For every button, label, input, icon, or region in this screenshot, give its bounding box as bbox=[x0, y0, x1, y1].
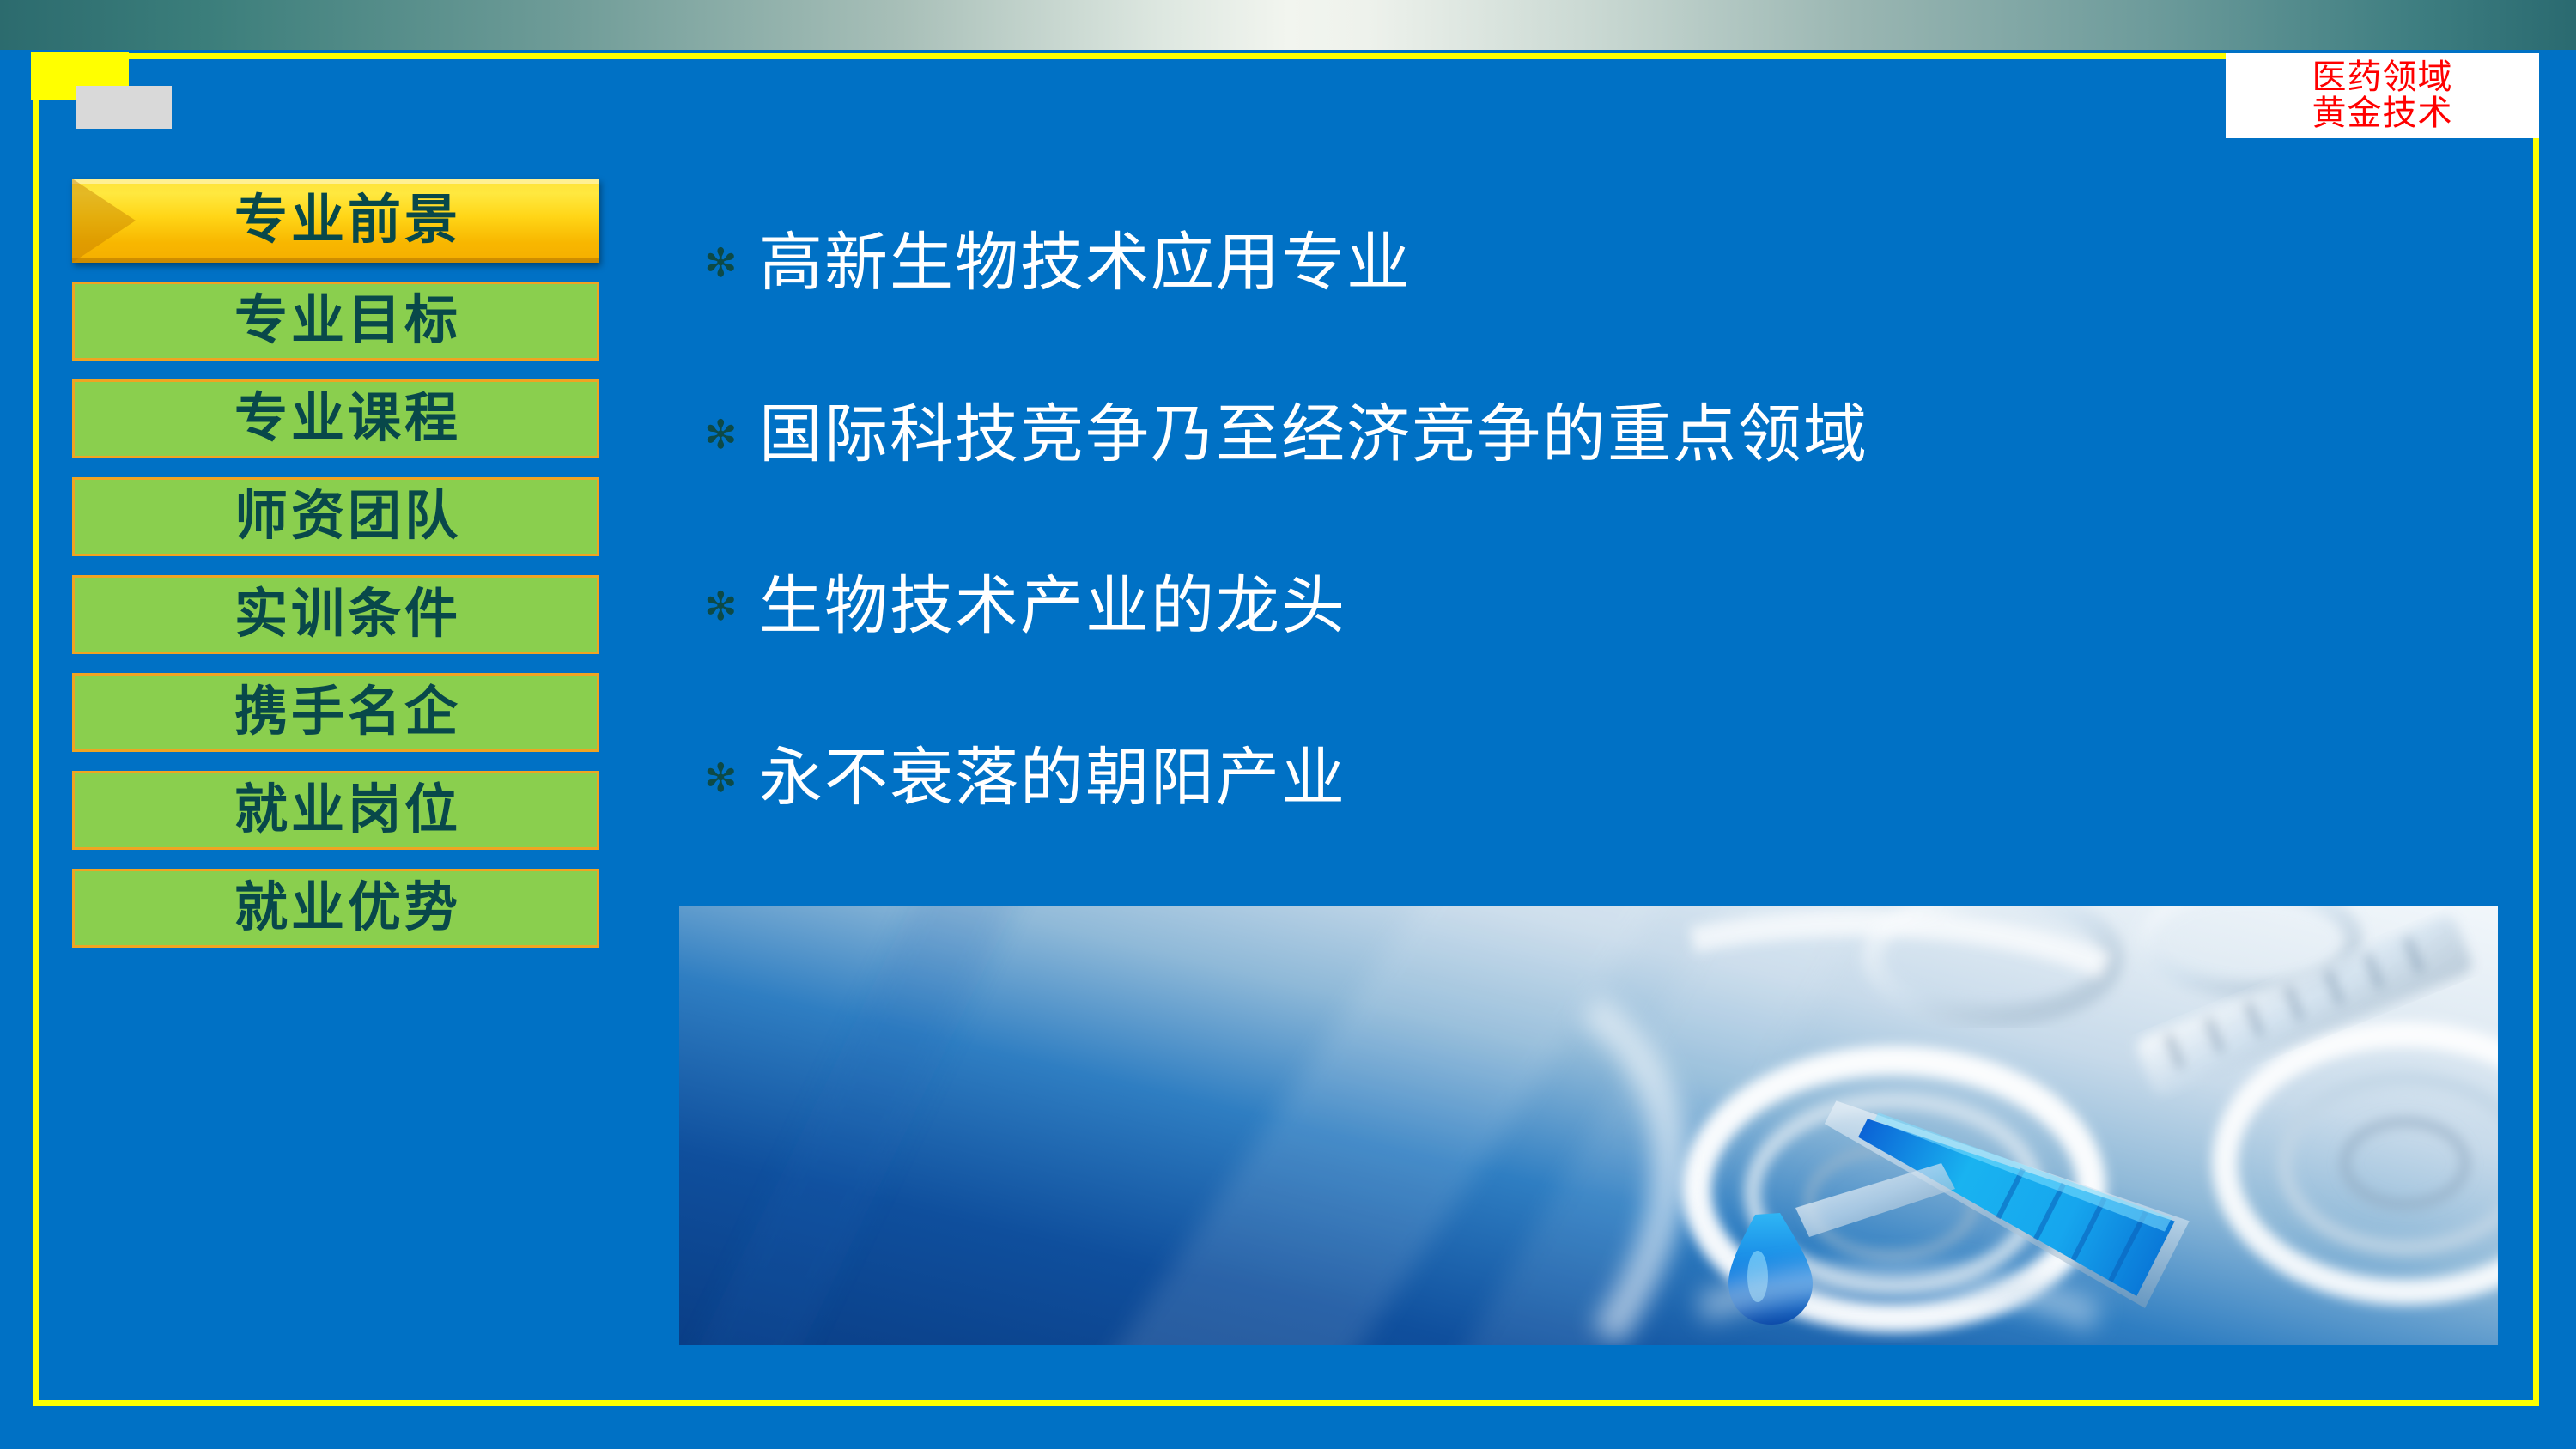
sidebar-item-major-goals[interactable]: 专业目标 bbox=[72, 282, 599, 361]
sidebar-item-label: 师资团队 bbox=[210, 490, 461, 543]
sidebar-item-label: 专业目标 bbox=[210, 294, 461, 348]
plaque-top-bevel bbox=[72, 179, 599, 184]
asterisk-bullet-icon: ✻ bbox=[704, 415, 759, 454]
bullet-text: 生物技术产业的龙头 bbox=[759, 573, 1346, 640]
sidebar-item-employment-advantages[interactable]: 就业优势 bbox=[72, 869, 599, 948]
sidebar-item-partner-companies[interactable]: 携手名企 bbox=[72, 673, 599, 752]
badge-line-1: 医药领域 bbox=[2312, 60, 2453, 96]
presentation-slide: 医药领域 黄金技术 专业前景 专业目标 专业课程 师资团队 实训条件 携手名企 … bbox=[0, 0, 2576, 1449]
plaque-left-bevel bbox=[72, 179, 136, 263]
list-item: ✻ 高新生物技术应用专业 bbox=[704, 215, 2464, 311]
sidebar-item-label: 实训条件 bbox=[210, 588, 461, 641]
sidebar-item-curriculum[interactable]: 专业课程 bbox=[72, 379, 599, 458]
laboratory-pipette-photo bbox=[679, 906, 2498, 1345]
decorative-grey-square bbox=[76, 86, 172, 129]
asterisk-bullet-icon: ✻ bbox=[704, 758, 759, 797]
sidebar-item-faculty-team[interactable]: 师资团队 bbox=[72, 477, 599, 556]
sidebar-item-label: 就业优势 bbox=[210, 882, 461, 935]
content-bullet-list: ✻ 高新生物技术应用专业 ✻ 国际科技竞争乃至经济竞争的重点领域 ✻ 生物技术产… bbox=[704, 215, 2464, 901]
sidebar-item-label: 专业前景 bbox=[210, 194, 461, 247]
sidebar-item-career-outlook[interactable]: 专业前景 bbox=[72, 179, 599, 263]
list-item: ✻ 永不衰落的朝阳产业 bbox=[704, 730, 2464, 826]
top-metallic-band bbox=[0, 0, 2576, 50]
sidebar-item-label: 就业岗位 bbox=[210, 784, 461, 837]
sidebar-item-job-positions[interactable]: 就业岗位 bbox=[72, 771, 599, 850]
bullet-text: 国际科技竞争乃至经济竞争的重点领域 bbox=[759, 401, 1868, 468]
medicine-gold-technology-badge: 医药领域 黄金技术 bbox=[2226, 53, 2539, 138]
plaque-bottom-bevel bbox=[72, 258, 599, 263]
sidebar-nav: 专业前景 专业目标 专业课程 师资团队 实训条件 携手名企 就业岗位 就业优势 bbox=[72, 179, 599, 967]
list-item: ✻ 国际科技竞争乃至经济竞争的重点领域 bbox=[704, 386, 2464, 482]
sidebar-item-label: 携手名企 bbox=[210, 686, 461, 739]
asterisk-bullet-icon: ✻ bbox=[704, 586, 759, 626]
badge-line-2: 黄金技术 bbox=[2312, 96, 2453, 132]
sidebar-item-training-facilities[interactable]: 实训条件 bbox=[72, 575, 599, 654]
asterisk-bullet-icon: ✻ bbox=[704, 243, 759, 282]
bullet-text: 高新生物技术应用专业 bbox=[759, 229, 1412, 296]
list-item: ✻ 生物技术产业的龙头 bbox=[704, 558, 2464, 654]
sidebar-item-label: 专业课程 bbox=[210, 392, 461, 446]
bullet-text: 永不衰落的朝阳产业 bbox=[759, 744, 1346, 811]
